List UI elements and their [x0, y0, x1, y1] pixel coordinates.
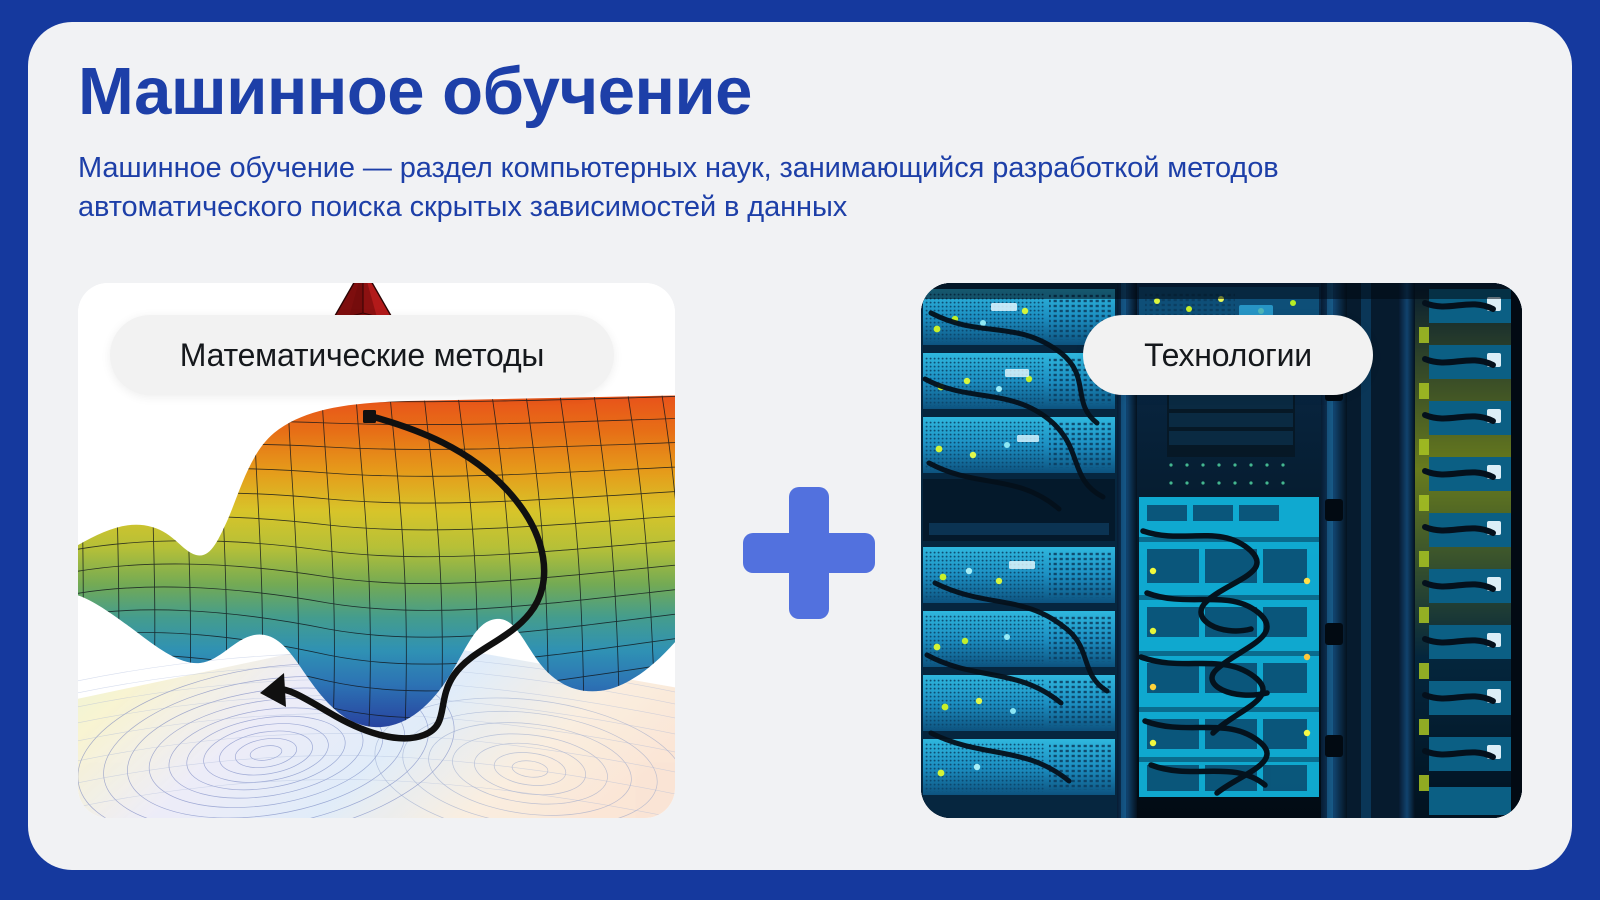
page-title: Машинное обучение: [78, 58, 1478, 126]
slide-root: Машинное обучение Машинное обучение — ра…: [0, 0, 1600, 900]
plus-operator-icon: [735, 479, 883, 627]
page-subtitle: Машинное обучение — раздел компьютерных …: [78, 149, 1398, 226]
content-card: Машинное обучение Машинное обучение — ра…: [28, 22, 1572, 870]
panel-label-technologies[interactable]: Технологии: [1083, 315, 1373, 395]
heading-block: Машинное обучение Машинное обучение — ра…: [78, 58, 1478, 226]
panel-technologies[interactable]: Технологии: [921, 283, 1522, 818]
panel-label-math-methods[interactable]: Математические методы: [110, 315, 614, 395]
plus-horizontal-bar: [743, 533, 875, 573]
panel-math-methods[interactable]: Математические методы: [78, 283, 675, 818]
rack-column-right: [1415, 283, 1522, 818]
panels-row: Математические методы: [78, 283, 1522, 818]
